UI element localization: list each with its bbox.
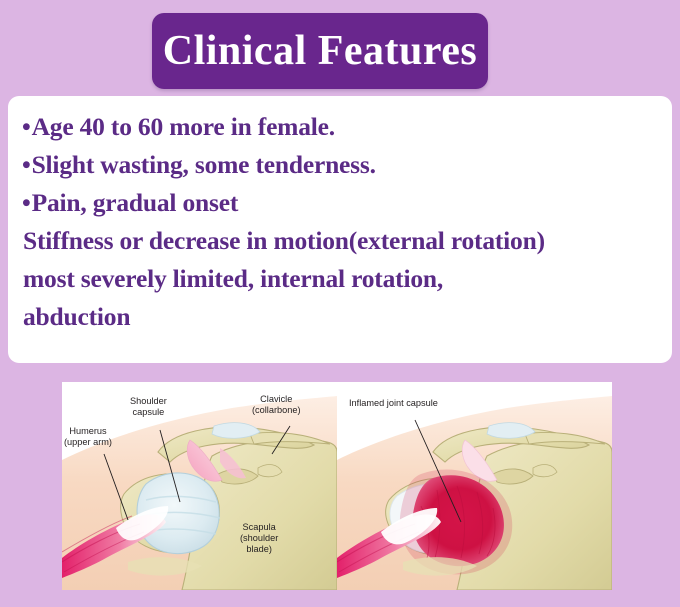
clinical-features-title-banner: Clinical Features [152, 13, 488, 89]
bullet-icon: • [22, 152, 31, 179]
feature-item: most severely limited, internal rotation… [22, 260, 658, 298]
page-title: Clinical Features [163, 30, 478, 72]
clinical-features-card: •Age 40 to 60 more in female. •Slight wa… [8, 96, 672, 363]
bullet-icon: • [22, 190, 31, 217]
feature-text: most severely limited, internal rotation… [23, 264, 443, 293]
bullet-icon: • [22, 114, 31, 141]
feature-item: •Age 40 to 60 more in female. [22, 108, 658, 146]
feature-text: Slight wasting, some tenderness. [32, 150, 376, 179]
feature-item: •Slight wasting, some tenderness. [22, 146, 658, 184]
feature-text: Age 40 to 60 more in female. [32, 112, 335, 141]
feature-item: abduction [22, 298, 658, 336]
feature-text: Pain, gradual onset [32, 188, 239, 217]
feature-text: Stiffness or decrease in motion(external… [23, 226, 545, 255]
shoulder-anatomy-illustration-panel: Humerus (upper arm) Shoulder capsule Cla… [62, 382, 612, 590]
normal-shoulder-figure: Humerus (upper arm) Shoulder capsule Cla… [62, 382, 337, 590]
normal-shoulder-diagram [62, 382, 337, 590]
feature-item: Stiffness or decrease in motion(external… [22, 222, 658, 260]
inflamed-shoulder-diagram [337, 382, 612, 590]
feature-item: •Pain, gradual onset [22, 184, 658, 222]
feature-text: abduction [23, 302, 130, 331]
inflamed-shoulder-figure: Inflamed joint capsule [337, 382, 612, 590]
